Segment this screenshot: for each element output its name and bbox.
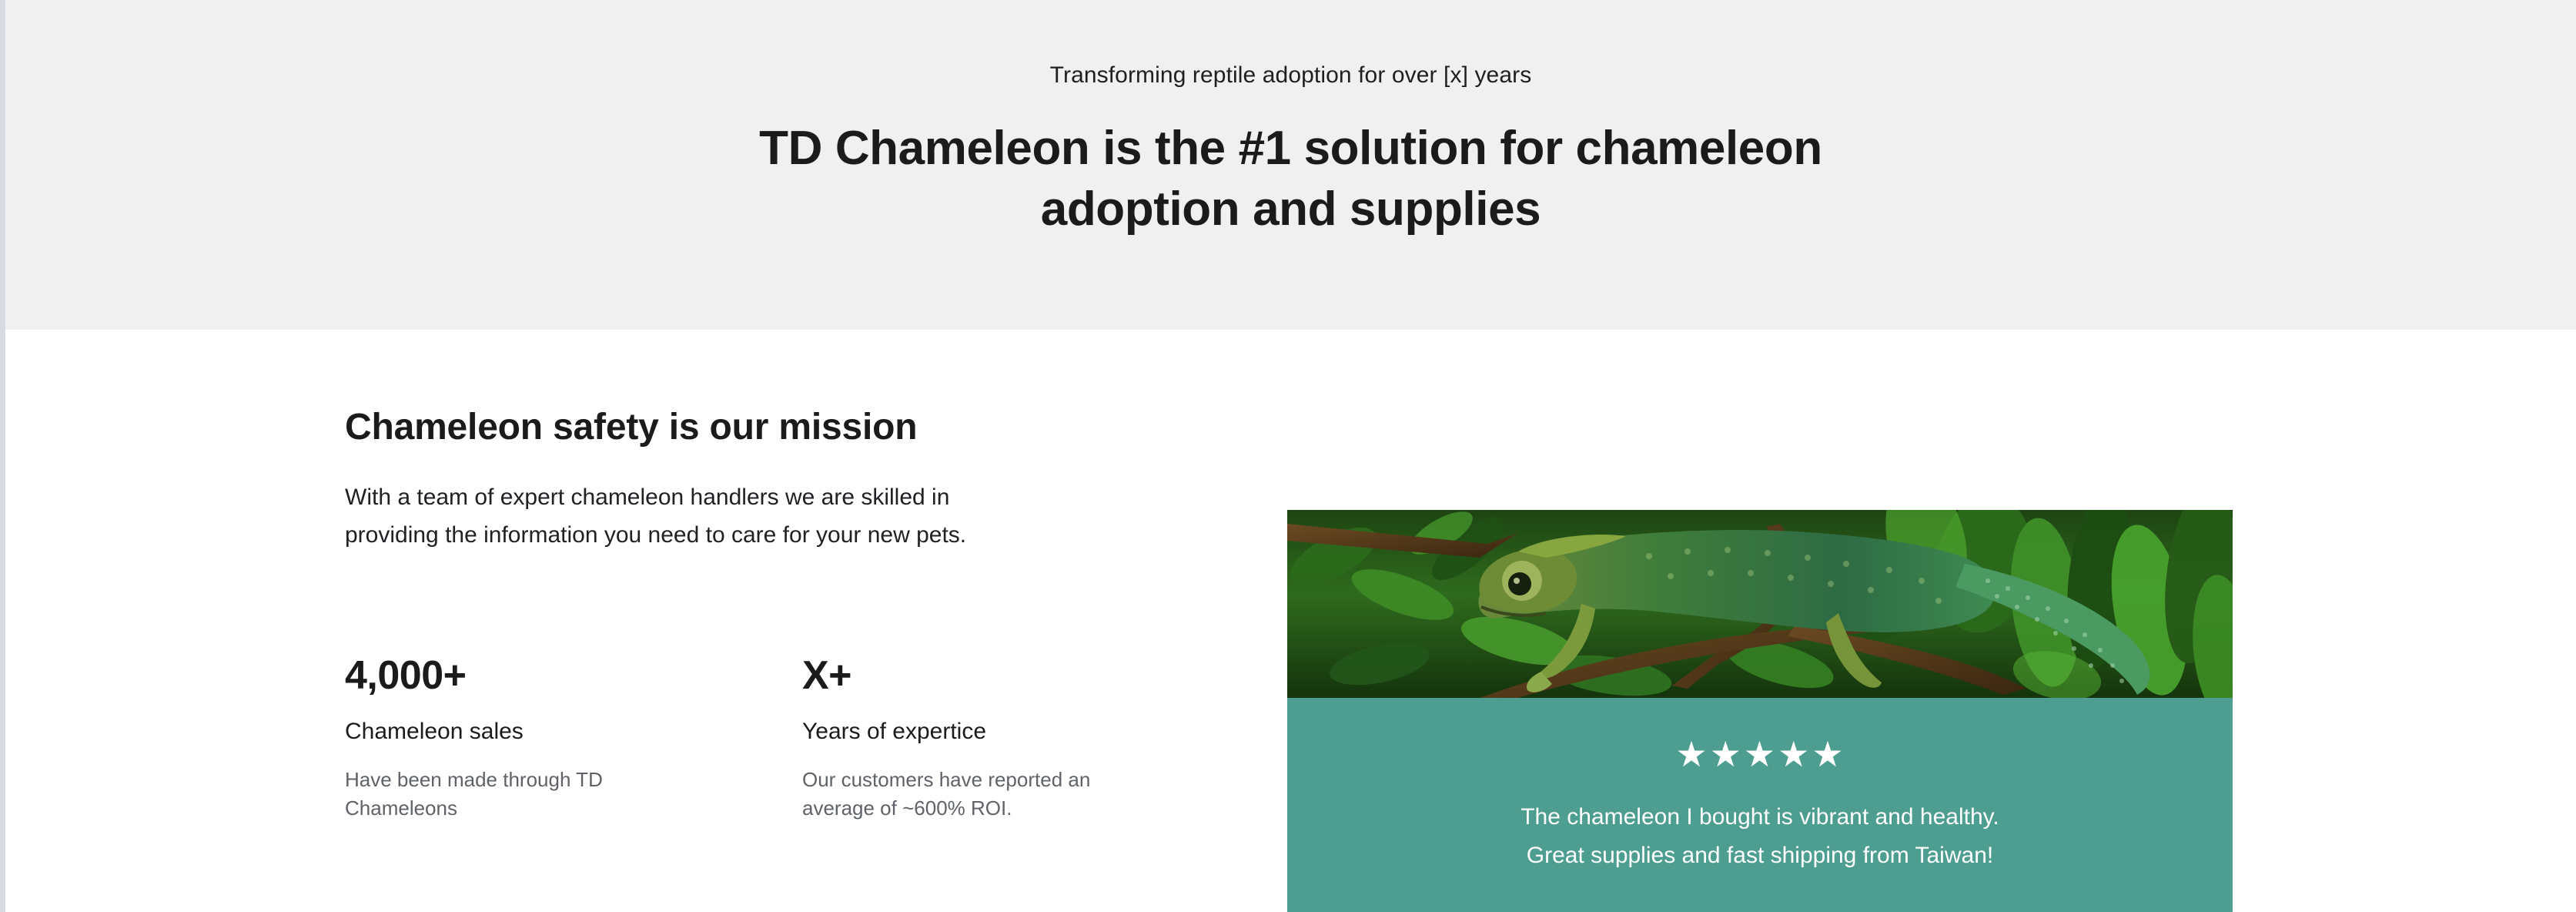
- stat-years-of-expertise: X+ Years of expertice Our customers have…: [802, 654, 1126, 823]
- mission-body-line-2: providing the information you need to ca…: [345, 522, 966, 548]
- star-icon: ★: [1710, 736, 1742, 772]
- stat-value: 4,000+: [345, 654, 668, 698]
- mission-body: With a team of expert chameleon handlers…: [345, 479, 1115, 554]
- page-root: Transforming reptile adoption for over […: [0, 0, 2576, 912]
- page-title: TD Chameleon is the #1 solution for cham…: [759, 118, 1822, 240]
- mission-section: Chameleon safety is our mission With a t…: [5, 330, 2576, 912]
- stat-description: Our customers have reported an average o…: [802, 766, 1102, 823]
- star-icon: ★: [1812, 736, 1844, 772]
- stat-label: Years of expertice: [802, 716, 1126, 746]
- page-scrollbar[interactable]: [0, 0, 5, 912]
- testimonial-text: The chameleon I bought is vibrant and he…: [1521, 798, 1999, 874]
- testimonial-quote-block: ★ ★ ★ ★ ★ The chameleon I bought is vibr…: [1287, 698, 2233, 912]
- hero-eyebrow-text: Transforming reptile adoption for over […: [1050, 60, 1532, 90]
- star-icon: ★: [1675, 736, 1708, 772]
- mission-text-block: Chameleon safety is our mission With a t…: [345, 404, 1161, 554]
- mission-body-line-1: With a team of expert chameleon handlers…: [345, 484, 949, 510]
- stats-group: 4,000+ Chameleon sales Have been made th…: [345, 654, 1126, 823]
- chameleon-photo: [1287, 510, 2233, 698]
- testimonial-card: ★ ★ ★ ★ ★ The chameleon I bought is vibr…: [1287, 510, 2233, 912]
- rating-stars: ★ ★ ★ ★ ★: [1675, 736, 1844, 772]
- stat-chameleon-sales: 4,000+ Chameleon sales Have been made th…: [345, 654, 668, 823]
- stat-label: Chameleon sales: [345, 716, 668, 746]
- hero-title-line-1: TD Chameleon is the #1 solution for cham…: [759, 122, 1822, 175]
- testimonial-line-1: The chameleon I bought is vibrant and he…: [1521, 798, 1999, 837]
- testimonial-line-2: Great supplies and fast shipping from Ta…: [1521, 837, 1999, 875]
- stat-value: X+: [802, 654, 1126, 698]
- mission-heading: Chameleon safety is our mission: [345, 404, 1161, 451]
- stat-description: Have been made through TD Chameleons: [345, 766, 645, 823]
- hero-section: Transforming reptile adoption for over […: [5, 0, 2576, 330]
- star-icon: ★: [1778, 736, 1810, 772]
- star-icon: ★: [1744, 736, 1776, 772]
- hero-title-line-2: adoption and supplies: [1041, 183, 1541, 236]
